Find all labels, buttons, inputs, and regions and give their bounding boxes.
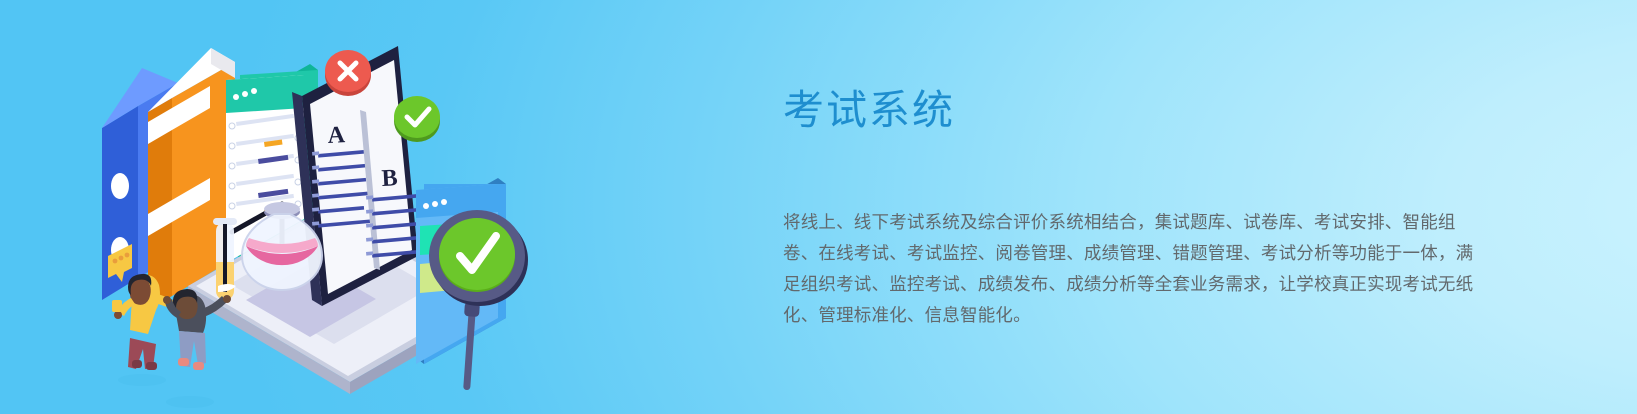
red-cross-badge-icon <box>325 50 371 96</box>
exam-system-banner: A <box>0 0 1637 414</box>
page-title: 考试系统 <box>783 86 1503 135</box>
green-check-badge-icon <box>394 96 440 142</box>
svg-text:B: B <box>381 165 398 192</box>
illustration-container: A <box>60 18 580 408</box>
svg-text:A: A <box>327 122 346 149</box>
text-column: 考试系统 将线上、线下考试系统及综合评价系统相结合，集试题库、试卷库、考试安排、… <box>783 86 1503 135</box>
person-man-grey-top-icon <box>163 284 236 408</box>
page-description: 将线上、线下考试系统及综合评价系统相结合，集试题库、试卷库、考试安排、智能组卷、… <box>783 207 1483 331</box>
